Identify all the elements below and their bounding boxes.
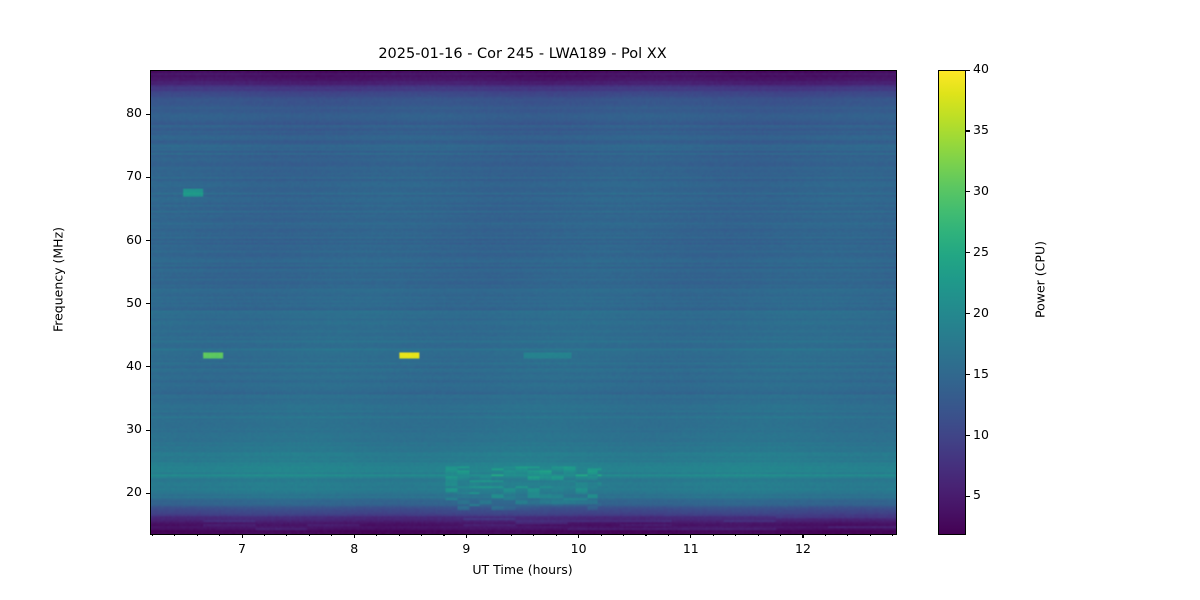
x-tick-mark-minor (892, 534, 893, 536)
x-tick-mark (690, 534, 691, 538)
y-tick-label: 20 (100, 484, 142, 499)
x-tick-mark-minor (376, 534, 377, 536)
x-tick-mark (466, 534, 467, 538)
x-tick-mark-minor (556, 534, 557, 536)
x-tick-mark (242, 534, 243, 538)
x-tick-label: 7 (212, 541, 272, 556)
x-tick-mark-minor (668, 534, 669, 536)
x-axis-label: UT Time (hours) (150, 562, 895, 577)
x-tick-mark-minor (511, 534, 512, 536)
x-tick-label: 12 (773, 541, 833, 556)
x-tick-mark-minor (645, 534, 646, 536)
colorbar-tick-label: 40 (973, 61, 989, 76)
y-tick-mark (146, 177, 150, 178)
colorbar-tick-mark (966, 191, 970, 192)
x-tick-mark-minor (780, 534, 781, 536)
colorbar-tick-label: 35 (973, 122, 989, 137)
x-tick-mark (354, 534, 355, 538)
figure-canvas: 2025-01-16 - Cor 245 - LWA189 - Pol XX F… (0, 0, 1200, 600)
y-tick-mark (146, 114, 150, 115)
y-tick-mark (146, 240, 150, 241)
colorbar-tick-label: 20 (973, 305, 989, 320)
colorbar-tick-label: 10 (973, 427, 989, 442)
y-tick-mark (146, 430, 150, 431)
x-tick-mark-minor (197, 534, 198, 536)
x-tick-mark-minor (264, 534, 265, 536)
y-axis-label: Frequency (MHz) (51, 170, 66, 390)
x-tick-mark-minor (623, 534, 624, 536)
x-tick-label: 9 (436, 541, 496, 556)
y-tick-label: 70 (100, 168, 142, 183)
x-tick-mark-minor (488, 534, 489, 536)
y-tick-mark (146, 303, 150, 304)
y-tick-label: 80 (100, 105, 142, 120)
spectrogram-image (151, 71, 896, 534)
colorbar-tick-mark (966, 374, 970, 375)
x-tick-mark-minor (758, 534, 759, 536)
x-tick-mark-minor (286, 534, 287, 536)
x-tick-label: 10 (549, 541, 609, 556)
colorbar[interactable] (938, 70, 966, 535)
spectrogram-canvas (151, 71, 896, 534)
x-tick-mark-minor (870, 534, 871, 536)
colorbar-tick-mark (966, 130, 970, 131)
x-tick-mark (578, 534, 579, 538)
colorbar-label: Power (CPU) (1033, 170, 1048, 390)
colorbar-tick-mark (966, 313, 970, 314)
x-tick-mark-minor (219, 534, 220, 536)
x-tick-mark-minor (735, 534, 736, 536)
x-tick-mark-minor (152, 534, 153, 536)
x-tick-mark (802, 534, 803, 538)
x-tick-mark-minor (174, 534, 175, 536)
x-tick-mark-minor (533, 534, 534, 536)
x-tick-label: 8 (324, 541, 384, 556)
colorbar-gradient (939, 71, 965, 534)
y-tick-label: 30 (100, 421, 142, 436)
x-tick-mark-minor (399, 534, 400, 536)
colorbar-tick-label: 15 (973, 366, 989, 381)
x-tick-label: 11 (661, 541, 721, 556)
x-tick-mark-minor (421, 534, 422, 536)
x-tick-mark-minor (309, 534, 310, 536)
colorbar-tick-label: 30 (973, 183, 989, 198)
colorbar-tick-mark (966, 496, 970, 497)
y-tick-mark (146, 493, 150, 494)
y-tick-label: 50 (100, 295, 142, 310)
page-title: 2025-01-16 - Cor 245 - LWA189 - Pol XX (150, 46, 895, 62)
x-tick-mark-minor (847, 534, 848, 536)
x-tick-mark-minor (601, 534, 602, 536)
y-tick-label: 60 (100, 232, 142, 247)
x-tick-mark-minor (713, 534, 714, 536)
x-tick-mark-minor (443, 534, 444, 536)
colorbar-tick-label: 25 (973, 244, 989, 259)
colorbar-tick-mark (966, 70, 970, 71)
colorbar-tick-mark (966, 435, 970, 436)
colorbar-tick-label: 5 (973, 487, 981, 502)
spectrogram-axes[interactable] (150, 70, 897, 535)
x-tick-mark-minor (825, 534, 826, 536)
y-tick-mark (146, 366, 150, 367)
y-tick-label: 40 (100, 358, 142, 373)
colorbar-tick-mark (966, 252, 970, 253)
x-tick-mark-minor (331, 534, 332, 536)
